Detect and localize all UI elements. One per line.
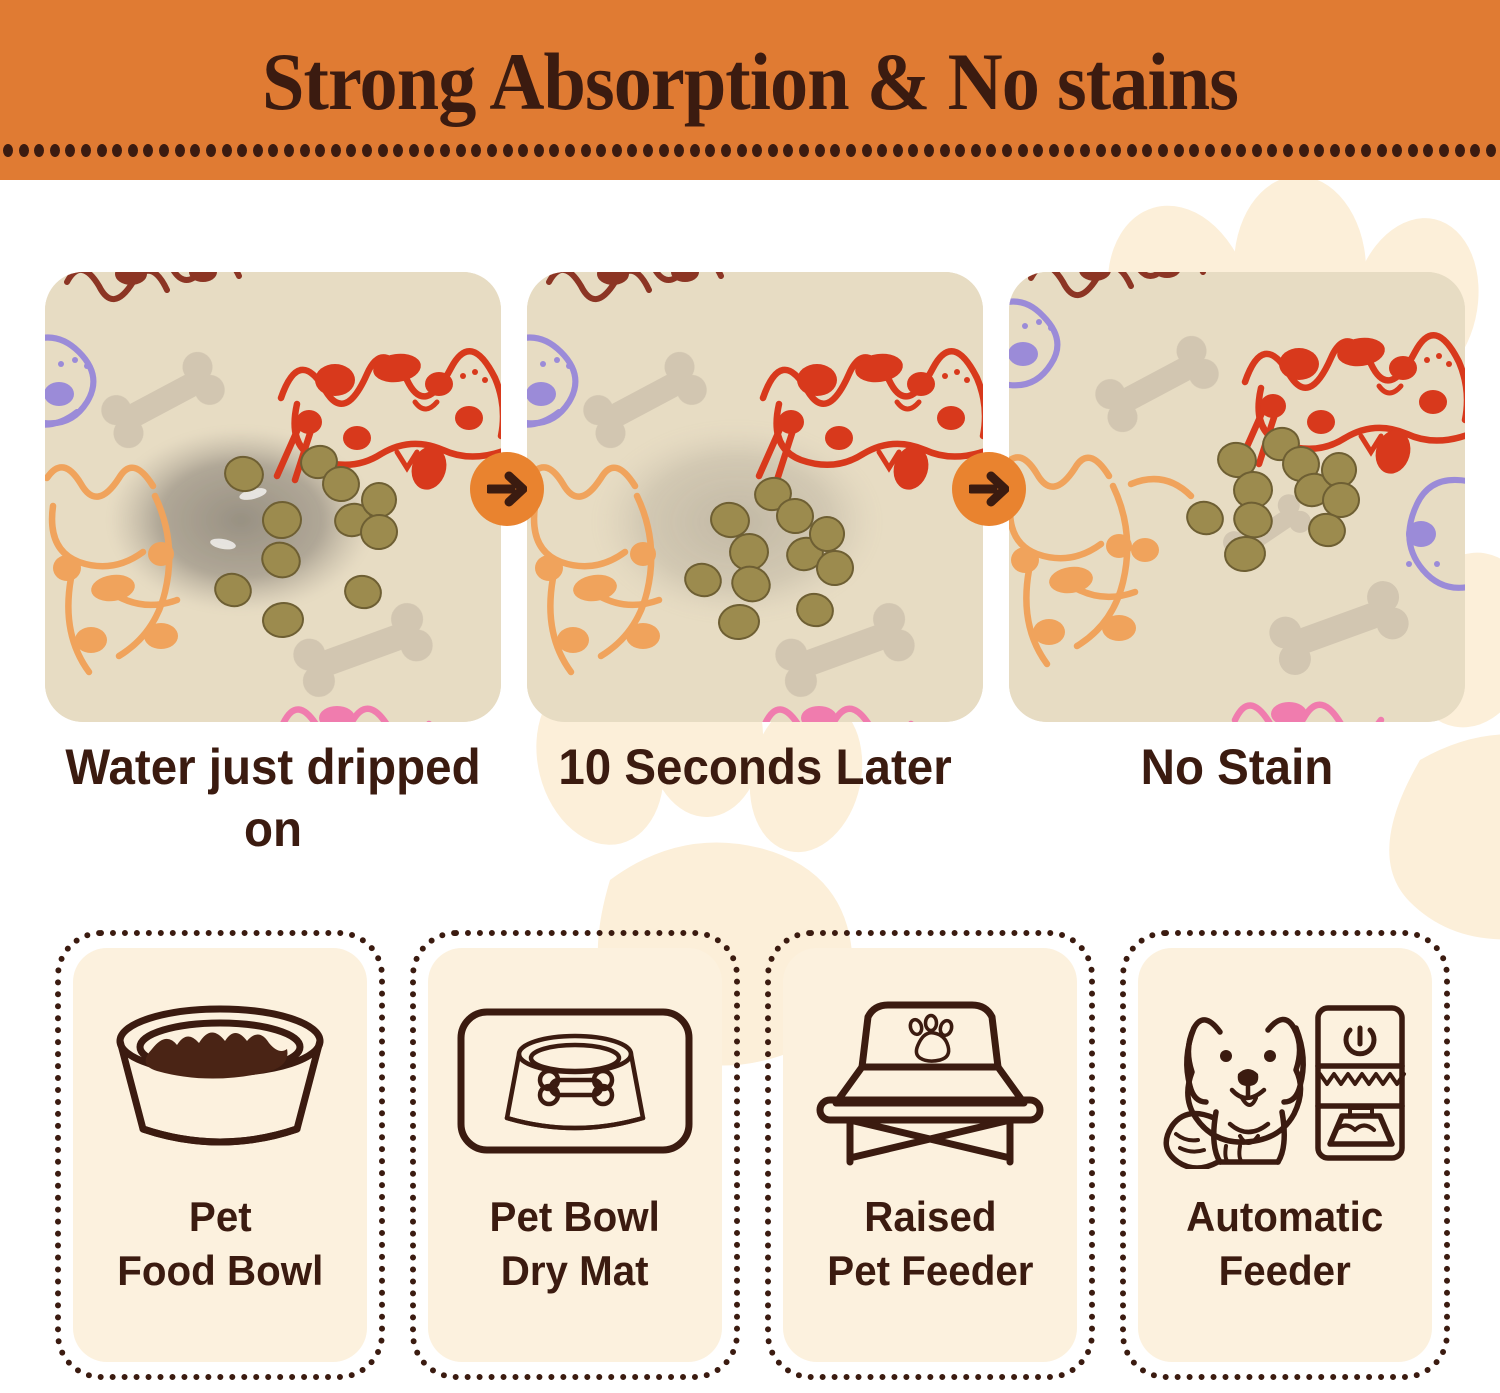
header-divider-dot	[1189, 144, 1199, 157]
header-divider-dot	[143, 144, 153, 157]
header-divider-dot	[565, 144, 575, 157]
header-divider-dot	[1486, 144, 1496, 157]
header-divider-dot	[862, 144, 872, 157]
header-banner: Strong Absorption & No stains	[0, 0, 1500, 180]
header-divider-dot	[783, 144, 793, 157]
header-divider-dot	[1002, 144, 1012, 157]
use-case-card-pet-food-bowl[interactable]: Pet Food Bowl	[55, 930, 385, 1380]
use-case-label: Automatic Feeder	[1186, 1190, 1383, 1298]
pet-food-bowl-icon	[95, 986, 345, 1176]
header-divider-dot	[237, 144, 247, 157]
header-divider-dot	[768, 144, 778, 157]
header-divider-dot	[1439, 144, 1449, 157]
header-divider-dot	[97, 144, 107, 157]
header-divider-dot	[1111, 144, 1121, 157]
header-divider-dot	[1361, 144, 1371, 157]
header-divider-dot	[1096, 144, 1106, 157]
header-divider-dot	[34, 144, 44, 157]
header-divider-dot	[1049, 144, 1059, 157]
header-divider-dot	[112, 144, 122, 157]
use-case-cards-row: Pet Food Bowl	[55, 930, 1450, 1380]
header-divider-dot	[268, 144, 278, 157]
demo-photo-step-1	[45, 272, 501, 722]
header-divider-dot	[362, 144, 372, 157]
header-divider-dot	[893, 144, 903, 157]
raised-pet-feeder-icon	[805, 986, 1055, 1176]
header-divider-dot	[19, 144, 29, 157]
header-divider-dot	[1033, 144, 1043, 157]
header-divider-dot	[643, 144, 653, 157]
demo-caption-step-2: 10 Seconds Later	[538, 736, 971, 798]
header-divider-dot	[190, 144, 200, 157]
step-arrow-2	[952, 452, 1026, 526]
header-divider-dot	[346, 144, 356, 157]
header-divider-dot	[1408, 144, 1418, 157]
header-divider-dot	[1018, 144, 1028, 157]
header-divider-dot	[3, 144, 13, 157]
header-divider-dot	[331, 144, 341, 157]
header-divider-dot	[986, 144, 996, 157]
use-case-label: Pet Food Bowl	[117, 1190, 323, 1298]
header-divider-dot	[456, 144, 466, 157]
header-divider-dot	[518, 144, 528, 157]
header-divider-dot	[940, 144, 950, 157]
header-divider-dot	[81, 144, 91, 157]
demo-caption-row: Water just dripped on 10 Seconds Later N…	[45, 736, 1465, 866]
use-case-card-automatic-feeder[interactable]: Automatic Feeder	[1120, 930, 1450, 1380]
header-divider-dot	[471, 144, 481, 157]
header-divider-dot	[596, 144, 606, 157]
header-divider-dot	[674, 144, 684, 157]
page-title: Strong Absorption & No stains	[53, 34, 1448, 130]
use-case-label: Pet Bowl Dry Mat	[490, 1190, 660, 1298]
header-divider-dot	[846, 144, 856, 157]
header-divider-dot	[1252, 144, 1262, 157]
header-divider-dot	[253, 144, 263, 157]
header-divider-dot	[65, 144, 75, 157]
header-divider-dot	[534, 144, 544, 157]
header-divider-dot	[424, 144, 434, 157]
header-divider-dot	[830, 144, 840, 157]
demo-photo-step-2	[527, 272, 983, 722]
header-divider-dot	[175, 144, 185, 157]
header-divider-dot	[284, 144, 294, 157]
header-divider-dot	[409, 144, 419, 157]
header-divider-dot	[1345, 144, 1355, 157]
header-divider-dot	[924, 144, 934, 157]
header-divider-dot	[971, 144, 981, 157]
header-divider-dot	[1205, 144, 1215, 157]
header-divider-dot	[955, 144, 965, 157]
use-case-card-pet-bowl-dry-mat[interactable]: Pet Bowl Dry Mat	[410, 930, 740, 1380]
header-divider-dot	[659, 144, 669, 157]
automatic-feeder-icon	[1160, 986, 1410, 1176]
header-divider-dot	[1267, 144, 1277, 157]
header-divider-dot	[1174, 144, 1184, 157]
header-divider-dot	[1330, 144, 1340, 157]
header-divider-dot	[1236, 144, 1246, 157]
header-divider-dot	[752, 144, 762, 157]
header-divider-dot	[1314, 144, 1324, 157]
header-divider-dot	[799, 144, 809, 157]
header-divider-dot	[128, 144, 138, 157]
header-divider-dot	[705, 144, 715, 157]
header-divider-dot	[690, 144, 700, 157]
header-divider-dot	[300, 144, 310, 157]
header-divider-dot	[1127, 144, 1137, 157]
header-divider-dot	[1455, 144, 1465, 157]
header-divider-dot	[908, 144, 918, 157]
header-divider-dot	[815, 144, 825, 157]
header-divider-dot	[877, 144, 887, 157]
header-divider-dot	[1392, 144, 1402, 157]
header-divider-dot	[1221, 144, 1231, 157]
step-arrow-1	[470, 452, 544, 526]
header-divider-dot	[206, 144, 216, 157]
arrow-right-icon	[487, 470, 527, 508]
header-divider-dot	[1377, 144, 1387, 157]
header-divider-dot	[393, 144, 403, 157]
header-divider-dot	[378, 144, 388, 157]
absorption-demo-row	[45, 272, 1465, 722]
header-divider-dot	[627, 144, 637, 157]
header-divider-dot	[222, 144, 232, 157]
header-divider-dot	[581, 144, 591, 157]
header-divider-dot	[159, 144, 169, 157]
pet-bowl-dry-mat-icon	[450, 986, 700, 1176]
header-divider-dot	[440, 144, 450, 157]
arrow-right-icon	[969, 470, 1009, 508]
header-divider-dot	[1283, 144, 1293, 157]
header-divider-dot	[487, 144, 497, 157]
header-divider-dot	[503, 144, 513, 157]
header-divider-dot	[1158, 144, 1168, 157]
header-divider-dot	[721, 144, 731, 157]
demo-photo-step-3	[1009, 272, 1465, 722]
demo-caption-step-3: No Stain	[1020, 736, 1453, 798]
header-divider-dot	[1064, 144, 1074, 157]
header-divider-dot	[1080, 144, 1090, 157]
use-case-label: Raised Pet Feeder	[827, 1190, 1033, 1298]
header-divider-dot	[737, 144, 747, 157]
header-divider-dot	[1470, 144, 1480, 157]
header-divider-dot	[612, 144, 622, 157]
header-divider-dot	[315, 144, 325, 157]
header-divider-dot	[1423, 144, 1433, 157]
use-case-card-raised-pet-feeder[interactable]: Raised Pet Feeder	[765, 930, 1095, 1380]
demo-caption-step-1: Water just dripped on	[56, 736, 489, 860]
header-divider-dot	[1142, 144, 1152, 157]
header-dotted-divider	[0, 144, 1500, 158]
header-divider-dot	[549, 144, 559, 157]
header-divider-dot	[1299, 144, 1309, 157]
header-divider-dot	[50, 144, 60, 157]
